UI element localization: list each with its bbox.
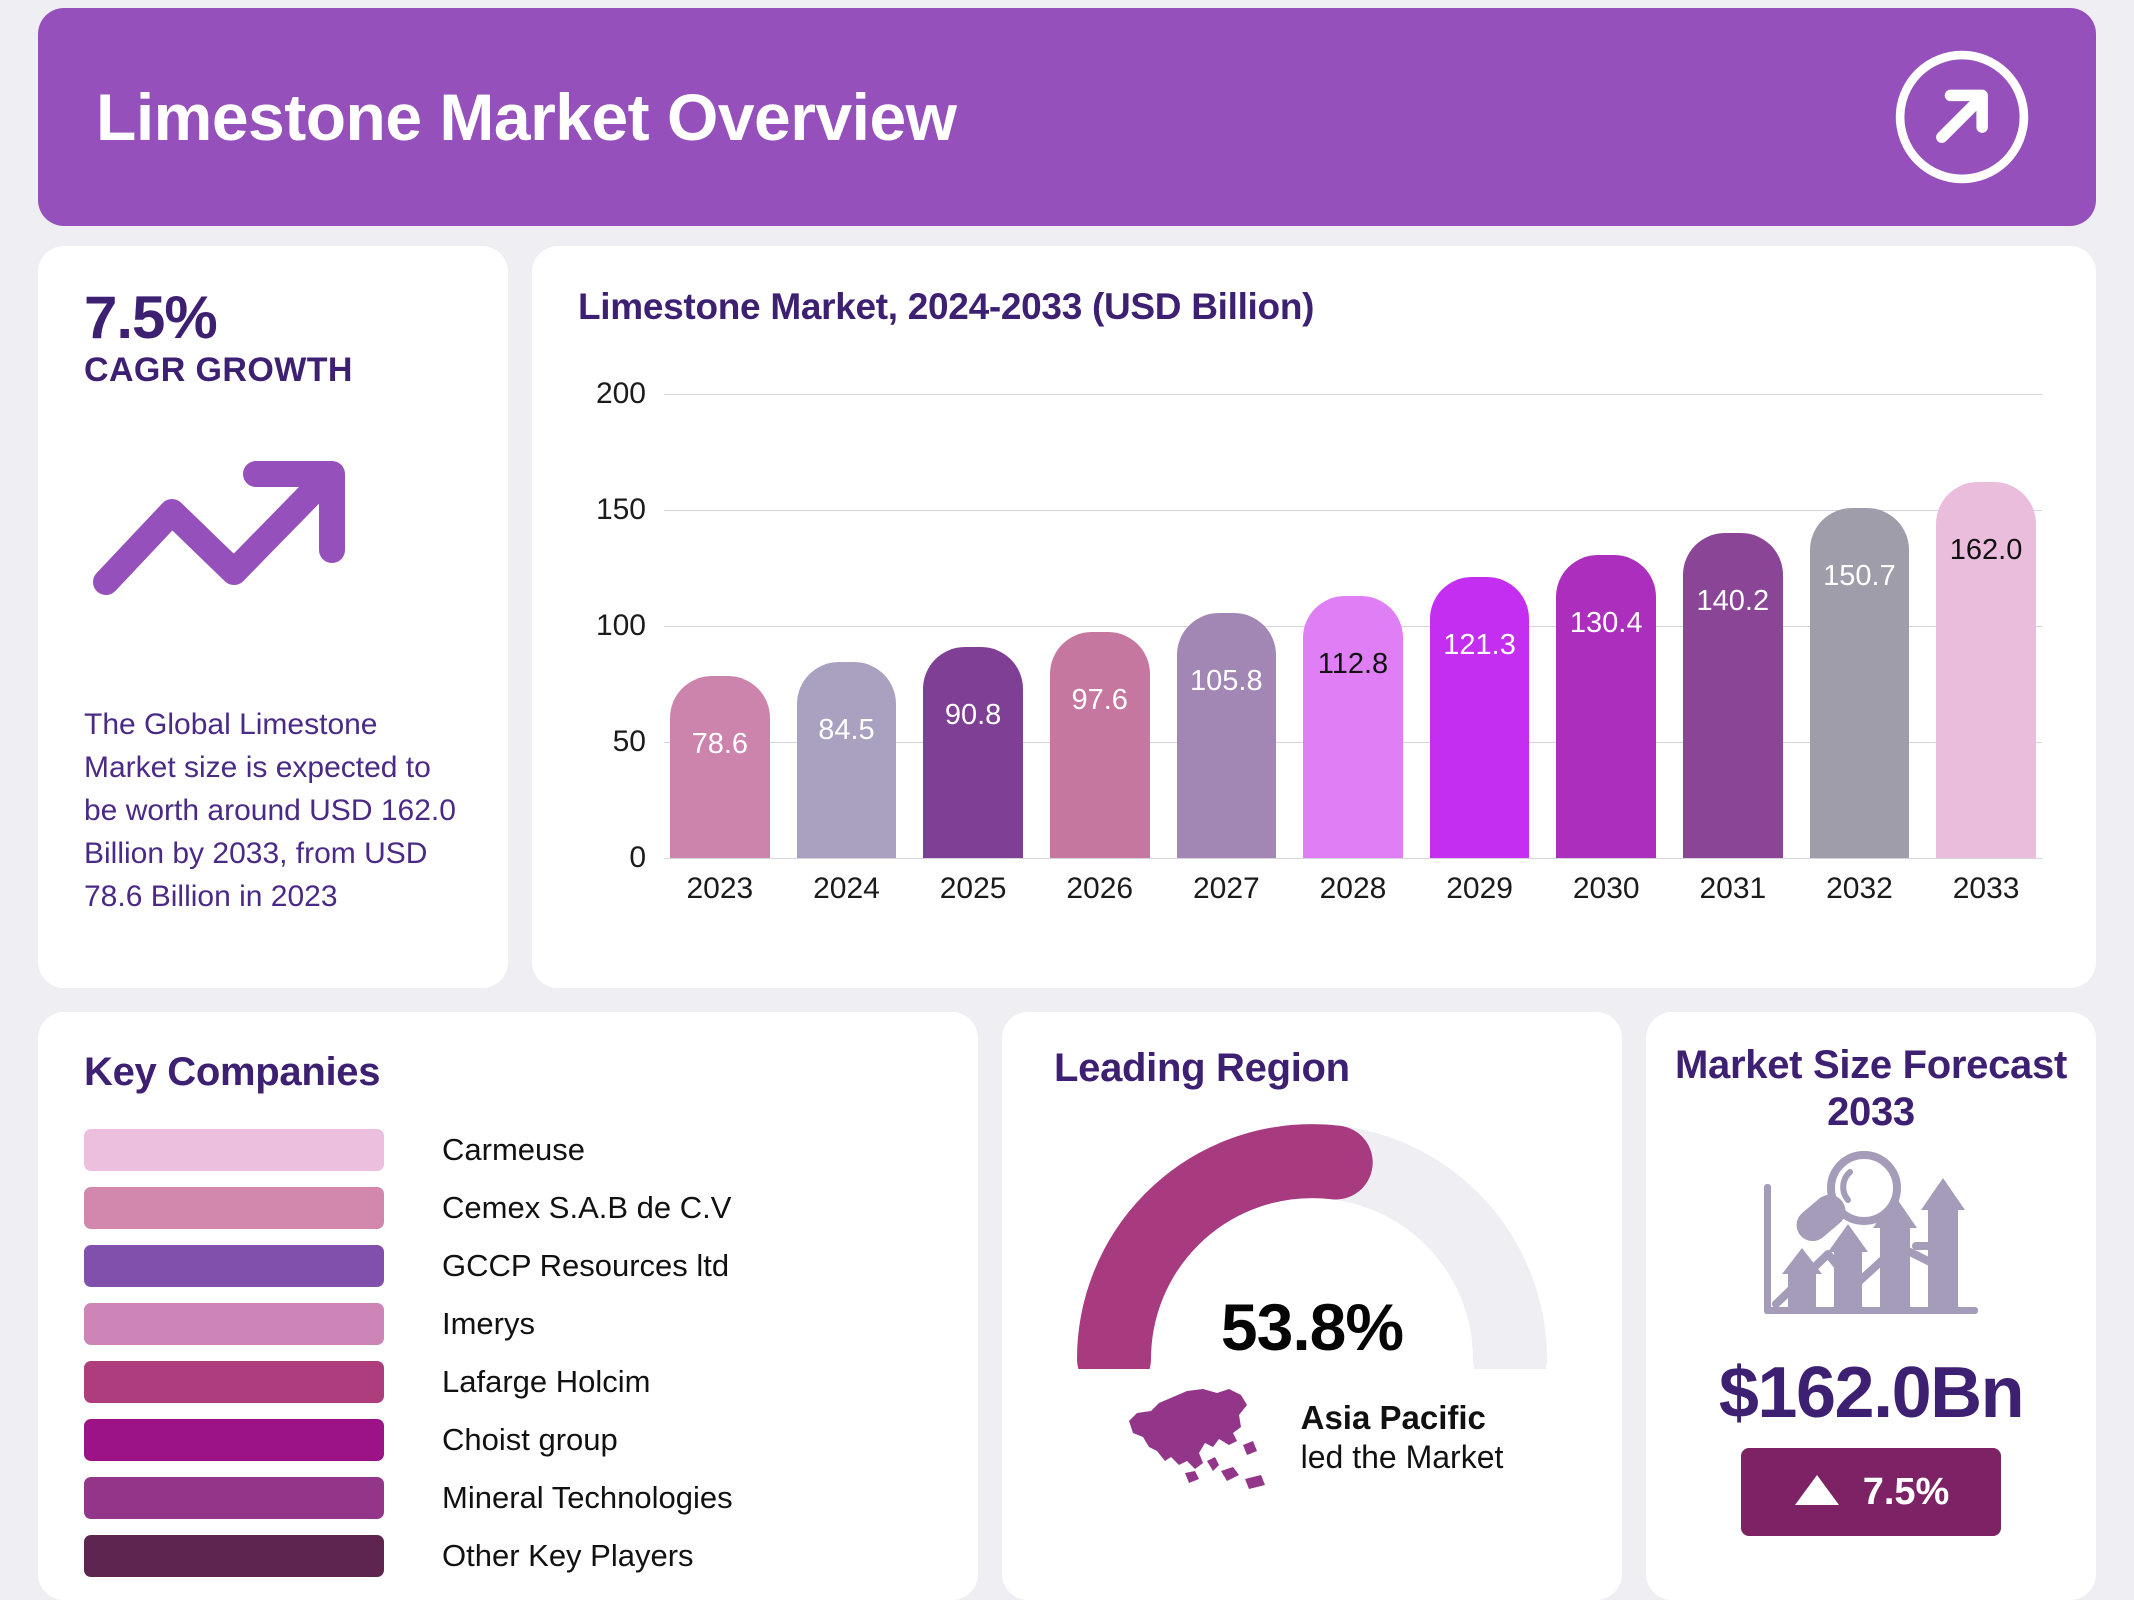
- bar-value-label: 140.2: [1697, 585, 1770, 618]
- bar-column: 140.22031: [1683, 394, 1783, 858]
- infographic-page: Limestone Market Overview 7.5% CAGR GROW…: [0, 8, 2134, 1600]
- forecast-value: $162.0Bn: [1719, 1352, 2023, 1434]
- company-row: Other Key Players: [84, 1527, 932, 1585]
- trending-up-arrow-icon: [84, 434, 374, 604]
- company-color-swatch: [84, 1187, 384, 1229]
- company-list: CarmeuseCemex S.A.B de C.VGCCP Resources…: [84, 1121, 932, 1585]
- company-name: Lafarge Holcim: [442, 1364, 650, 1400]
- asia-pacific-map-icon: [1121, 1375, 1271, 1500]
- cagr-label: CAGR GROWTH: [84, 351, 462, 390]
- x-axis-tick: 2023: [686, 872, 753, 906]
- company-row: Cemex S.A.B de C.V: [84, 1179, 932, 1237]
- bar[interactable]: 121.3: [1430, 577, 1530, 858]
- x-axis-tick: 2032: [1826, 872, 1893, 906]
- cagr-value: 7.5%: [84, 286, 462, 349]
- bar-value-label: 97.6: [1071, 684, 1127, 717]
- y-axis-tick: 200: [596, 377, 646, 411]
- bar-column: 130.42030: [1556, 394, 1656, 858]
- bar-column: 105.82027: [1177, 394, 1277, 858]
- region-gauge: 53.8%: [1062, 1119, 1562, 1369]
- company-color-swatch: [84, 1535, 384, 1577]
- page-header: Limestone Market Overview: [38, 8, 2096, 226]
- x-axis-tick: 2033: [1953, 872, 2020, 906]
- region-subtitle: led the Market: [1301, 1438, 1504, 1477]
- x-axis-tick: 2026: [1066, 872, 1133, 906]
- bar-value-label: 162.0: [1950, 534, 2023, 567]
- row-lower: Key Companies CarmeuseCemex S.A.B de C.V…: [38, 1012, 2096, 1600]
- bar-column: 112.82028: [1303, 394, 1403, 858]
- company-row: Imerys: [84, 1295, 932, 1353]
- company-name: GCCP Resources ltd: [442, 1248, 729, 1284]
- bar[interactable]: 162.0: [1936, 482, 2036, 858]
- region-footer: Asia Pacific led the Market: [1121, 1375, 1504, 1500]
- plot: 050100150200 78.6202384.5202490.8202597.…: [664, 394, 2042, 858]
- bar[interactable]: 97.6: [1050, 632, 1150, 858]
- gridline: 0: [664, 858, 2042, 859]
- bar-column: 78.62023: [670, 394, 770, 858]
- bar-value-label: 130.4: [1570, 607, 1643, 640]
- company-row: Carmeuse: [84, 1121, 932, 1179]
- region-name: Asia Pacific: [1301, 1398, 1504, 1438]
- bar-column: 150.72032: [1810, 394, 1910, 858]
- company-color-swatch: [84, 1477, 384, 1519]
- triangle-up-icon: [1793, 1471, 1841, 1514]
- cagr-card: 7.5% CAGR GROWTH The Global Limestone Ma…: [38, 246, 508, 988]
- company-color-swatch: [84, 1245, 384, 1287]
- x-axis-tick: 2029: [1446, 872, 1513, 906]
- company-name: Other Key Players: [442, 1538, 694, 1574]
- bar[interactable]: 112.8: [1303, 596, 1403, 858]
- x-axis-tick: 2028: [1320, 872, 1387, 906]
- bar[interactable]: 84.5: [797, 662, 897, 858]
- forecast-title: Market Size Forecast 2033: [1672, 1042, 2070, 1136]
- leading-region-card: Leading Region 53.8%: [1002, 1012, 1622, 1600]
- badge-value: 7.5%: [1863, 1471, 1950, 1514]
- bar-value-label: 121.3: [1443, 629, 1516, 662]
- bar[interactable]: 150.7: [1810, 508, 1910, 858]
- bar-value-label: 90.8: [945, 699, 1001, 732]
- company-row: Mineral Technologies: [84, 1469, 932, 1527]
- company-row: Choist group: [84, 1411, 932, 1469]
- company-row: Lafarge Holcim: [84, 1353, 932, 1411]
- growth-badge: 7.5%: [1741, 1448, 2001, 1536]
- company-color-swatch: [84, 1419, 384, 1461]
- bar[interactable]: 90.8: [923, 647, 1023, 858]
- company-name: Cemex S.A.B de C.V: [442, 1190, 731, 1226]
- bar-series: 78.6202384.5202490.8202597.62026105.8202…: [664, 394, 2042, 858]
- x-axis-tick: 2030: [1573, 872, 1640, 906]
- key-companies-card: Key Companies CarmeuseCemex S.A.B de C.V…: [38, 1012, 978, 1600]
- market-size-forecast-card: Market Size Forecast 2033: [1646, 1012, 2096, 1600]
- x-axis-tick: 2027: [1193, 872, 1260, 906]
- bar-value-label: 84.5: [818, 714, 874, 747]
- row-upper: 7.5% CAGR GROWTH The Global Limestone Ma…: [38, 246, 2096, 988]
- region-percent: 53.8%: [1062, 1289, 1562, 1365]
- y-axis-tick: 150: [596, 493, 646, 527]
- market-chart-card: Limestone Market, 2024-2033 (USD Billion…: [532, 246, 2096, 988]
- y-axis-tick: 100: [596, 609, 646, 643]
- bar-column: 162.02033: [1936, 394, 2036, 858]
- arrow-up-right-circle-icon[interactable]: [1890, 45, 2034, 189]
- cagr-description: The Global Limestone Market size is expe…: [84, 704, 466, 918]
- company-name: Mineral Technologies: [442, 1480, 733, 1516]
- company-name: Carmeuse: [442, 1132, 585, 1168]
- company-color-swatch: [84, 1303, 384, 1345]
- bar-value-label: 112.8: [1318, 648, 1388, 681]
- bar[interactable]: 105.8: [1177, 613, 1277, 858]
- growth-chart-magnifier-icon: [1746, 1148, 1996, 1334]
- bar-column: 90.82025: [923, 394, 1023, 858]
- chart-title: Limestone Market, 2024-2033 (USD Billion…: [578, 286, 2050, 328]
- bar-value-label: 150.7: [1823, 560, 1896, 593]
- x-axis-tick: 2025: [940, 872, 1007, 906]
- y-axis-tick: 0: [629, 841, 646, 875]
- company-color-swatch: [84, 1361, 384, 1403]
- bar-column: 121.32029: [1430, 394, 1530, 858]
- bar-value-label: 105.8: [1190, 665, 1263, 698]
- key-companies-title: Key Companies: [84, 1050, 932, 1095]
- bar[interactable]: 130.4: [1556, 555, 1656, 858]
- company-name: Choist group: [442, 1422, 618, 1458]
- bar[interactable]: 78.6: [670, 676, 770, 858]
- y-axis-tick: 50: [613, 725, 646, 759]
- x-axis-tick: 2024: [813, 872, 880, 906]
- leading-region-title: Leading Region: [1054, 1046, 1350, 1091]
- company-name: Imerys: [442, 1306, 535, 1342]
- region-text: Asia Pacific led the Market: [1301, 1398, 1504, 1477]
- bar-value-label: 78.6: [692, 728, 748, 761]
- chart-plot-area: 050100150200 78.6202384.5202490.8202597.…: [578, 394, 2050, 914]
- x-axis-tick: 2031: [1699, 872, 1766, 906]
- company-row: GCCP Resources ltd: [84, 1237, 932, 1295]
- bar-column: 97.62026: [1050, 394, 1150, 858]
- bar-column: 84.52024: [797, 394, 897, 858]
- page-title: Limestone Market Overview: [96, 84, 957, 150]
- company-color-swatch: [84, 1129, 384, 1171]
- bar[interactable]: 140.2: [1683, 533, 1783, 858]
